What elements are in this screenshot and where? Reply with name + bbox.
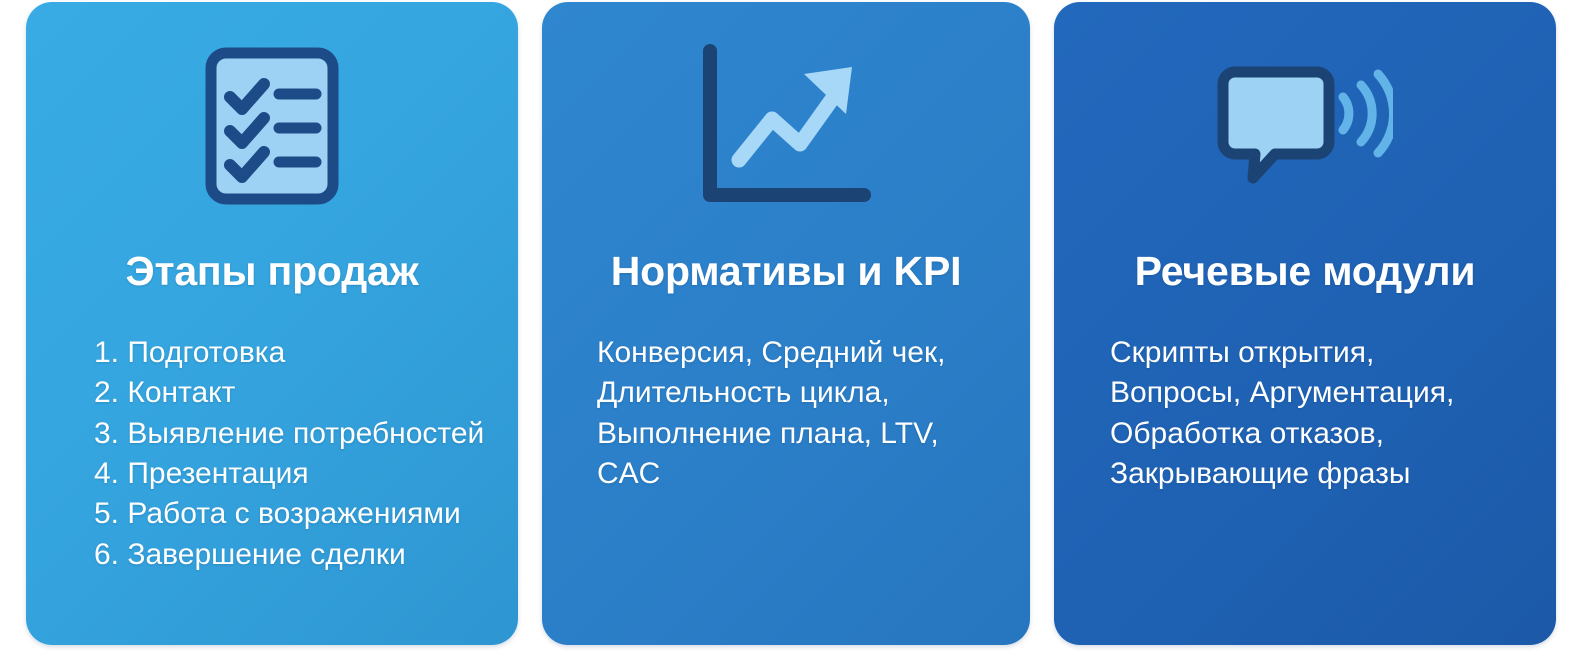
body-line: Обработка отказов, [1110,414,1542,454]
checklist-icon [26,2,518,250]
growth-chart-icon [542,2,1030,250]
body-line: Выполнение плана, LTV, [597,414,1016,454]
card-body: Скрипты открытия, Вопросы, Аргументация,… [1054,333,1556,494]
card-body: Конверсия, Средний чек, Длительность цик… [542,333,1030,494]
list-item: 4. Презентация [94,454,504,494]
list-item: 3. Выявление потребностей [94,414,504,454]
steps-list: 1. Подготовка 2. Контакт 3. Выявление по… [94,333,504,575]
card-title: Нормативы и KPI [542,250,1030,293]
body-line: Скрипты открытия, [1110,333,1542,373]
card-speech-modules[interactable]: Речевые модули Скрипты открытия, Вопросы… [1054,2,1556,645]
list-item: 5. Работа с возражениями [94,494,504,534]
speech-bubble-icon [1054,2,1556,250]
body-line: Вопросы, Аргументация, [1110,373,1542,413]
body-line: CAC [597,454,1016,494]
body-line: Длительность цикла, [597,373,1016,413]
card-sales-stages[interactable]: Этапы продаж 1. Подготовка 2. Контакт 3.… [26,2,518,645]
list-item: 6. Завершение сделки [94,535,504,575]
list-item: 1. Подготовка [94,333,504,373]
list-item: 2. Контакт [94,373,504,413]
card-title: Речевые модули [1054,250,1556,293]
body-line: Закрывающие фразы [1110,454,1542,494]
card-standards-kpi[interactable]: Нормативы и KPI Конверсия, Средний чек, … [542,2,1030,645]
card-title: Этапы продаж [26,250,518,293]
card-body: 1. Подготовка 2. Контакт 3. Выявление по… [26,333,518,575]
body-line: Конверсия, Средний чек, [597,333,1016,373]
cards-board: Этапы продаж 1. Подготовка 2. Контакт 3.… [0,0,1584,672]
